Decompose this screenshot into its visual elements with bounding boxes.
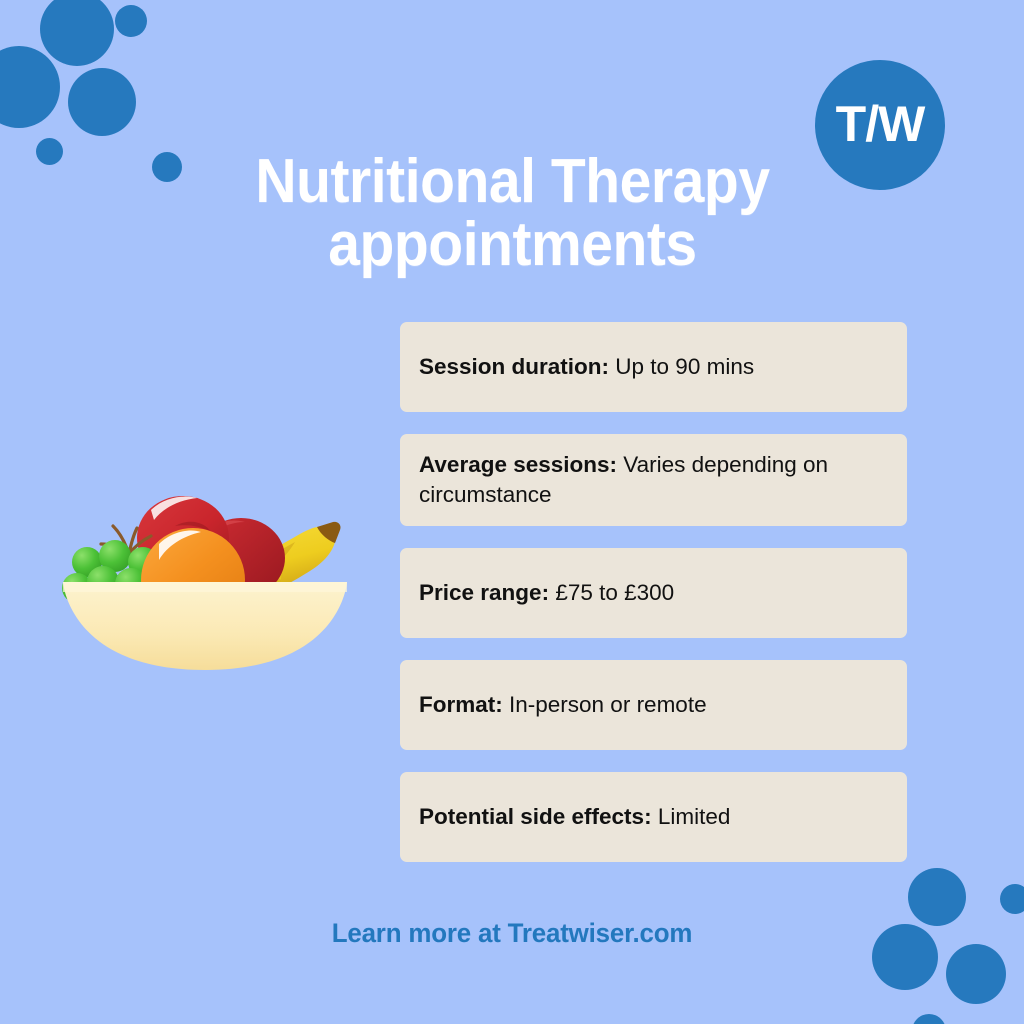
decorative-circle bbox=[36, 138, 63, 165]
page-title: Nutritional Therapy appointments bbox=[225, 150, 800, 276]
info-card-label: Average sessions: bbox=[419, 452, 617, 477]
info-card: Format: In-person or remote bbox=[400, 660, 907, 750]
footer-link[interactable]: Learn more at Treatwiser.com bbox=[20, 918, 1003, 949]
brand-logo-text: T/W bbox=[836, 99, 925, 149]
info-card: Session duration: Up to 90 mins bbox=[400, 322, 907, 412]
info-card-value: Up to 90 mins bbox=[609, 354, 754, 379]
info-card-value: £75 to £300 bbox=[549, 580, 674, 605]
info-card-label: Session duration: bbox=[419, 354, 609, 379]
info-card-label: Price range: bbox=[419, 580, 549, 605]
info-card-text: Session duration: Up to 90 mins bbox=[419, 352, 754, 382]
info-card: Potential side effects: Limited bbox=[400, 772, 907, 862]
info-card: Price range: £75 to £300 bbox=[400, 548, 907, 638]
decorative-circle bbox=[1000, 884, 1024, 914]
info-card-text: Average sessions: Varies depending on ci… bbox=[419, 450, 888, 511]
info-card-text: Format: In-person or remote bbox=[419, 690, 707, 720]
decorative-circle bbox=[40, 0, 114, 66]
info-card-label: Potential side effects: bbox=[419, 804, 652, 829]
decorative-circle bbox=[946, 944, 1006, 1004]
info-card-text: Price range: £75 to £300 bbox=[419, 578, 674, 608]
fruit-bowl-illustration bbox=[55, 470, 355, 680]
decorative-circle bbox=[115, 5, 147, 37]
info-card-label: Format: bbox=[419, 692, 503, 717]
decorative-circle bbox=[152, 152, 182, 182]
decorative-circle bbox=[68, 68, 136, 136]
info-card-list: Session duration: Up to 90 minsAverage s… bbox=[400, 322, 907, 884]
info-card-value: In-person or remote bbox=[503, 692, 707, 717]
brand-logo-badge[interactable]: T/W bbox=[815, 60, 945, 190]
info-card-value: Limited bbox=[652, 804, 731, 829]
info-card-text: Potential side effects: Limited bbox=[419, 802, 730, 832]
decorative-circle bbox=[0, 46, 60, 128]
bowl-shape bbox=[63, 582, 347, 670]
infographic-canvas: T/W Nutritional Therapy appointments bbox=[0, 0, 1024, 1024]
info-card: Average sessions: Varies depending on ci… bbox=[400, 434, 907, 526]
decorative-circle bbox=[912, 1014, 946, 1024]
